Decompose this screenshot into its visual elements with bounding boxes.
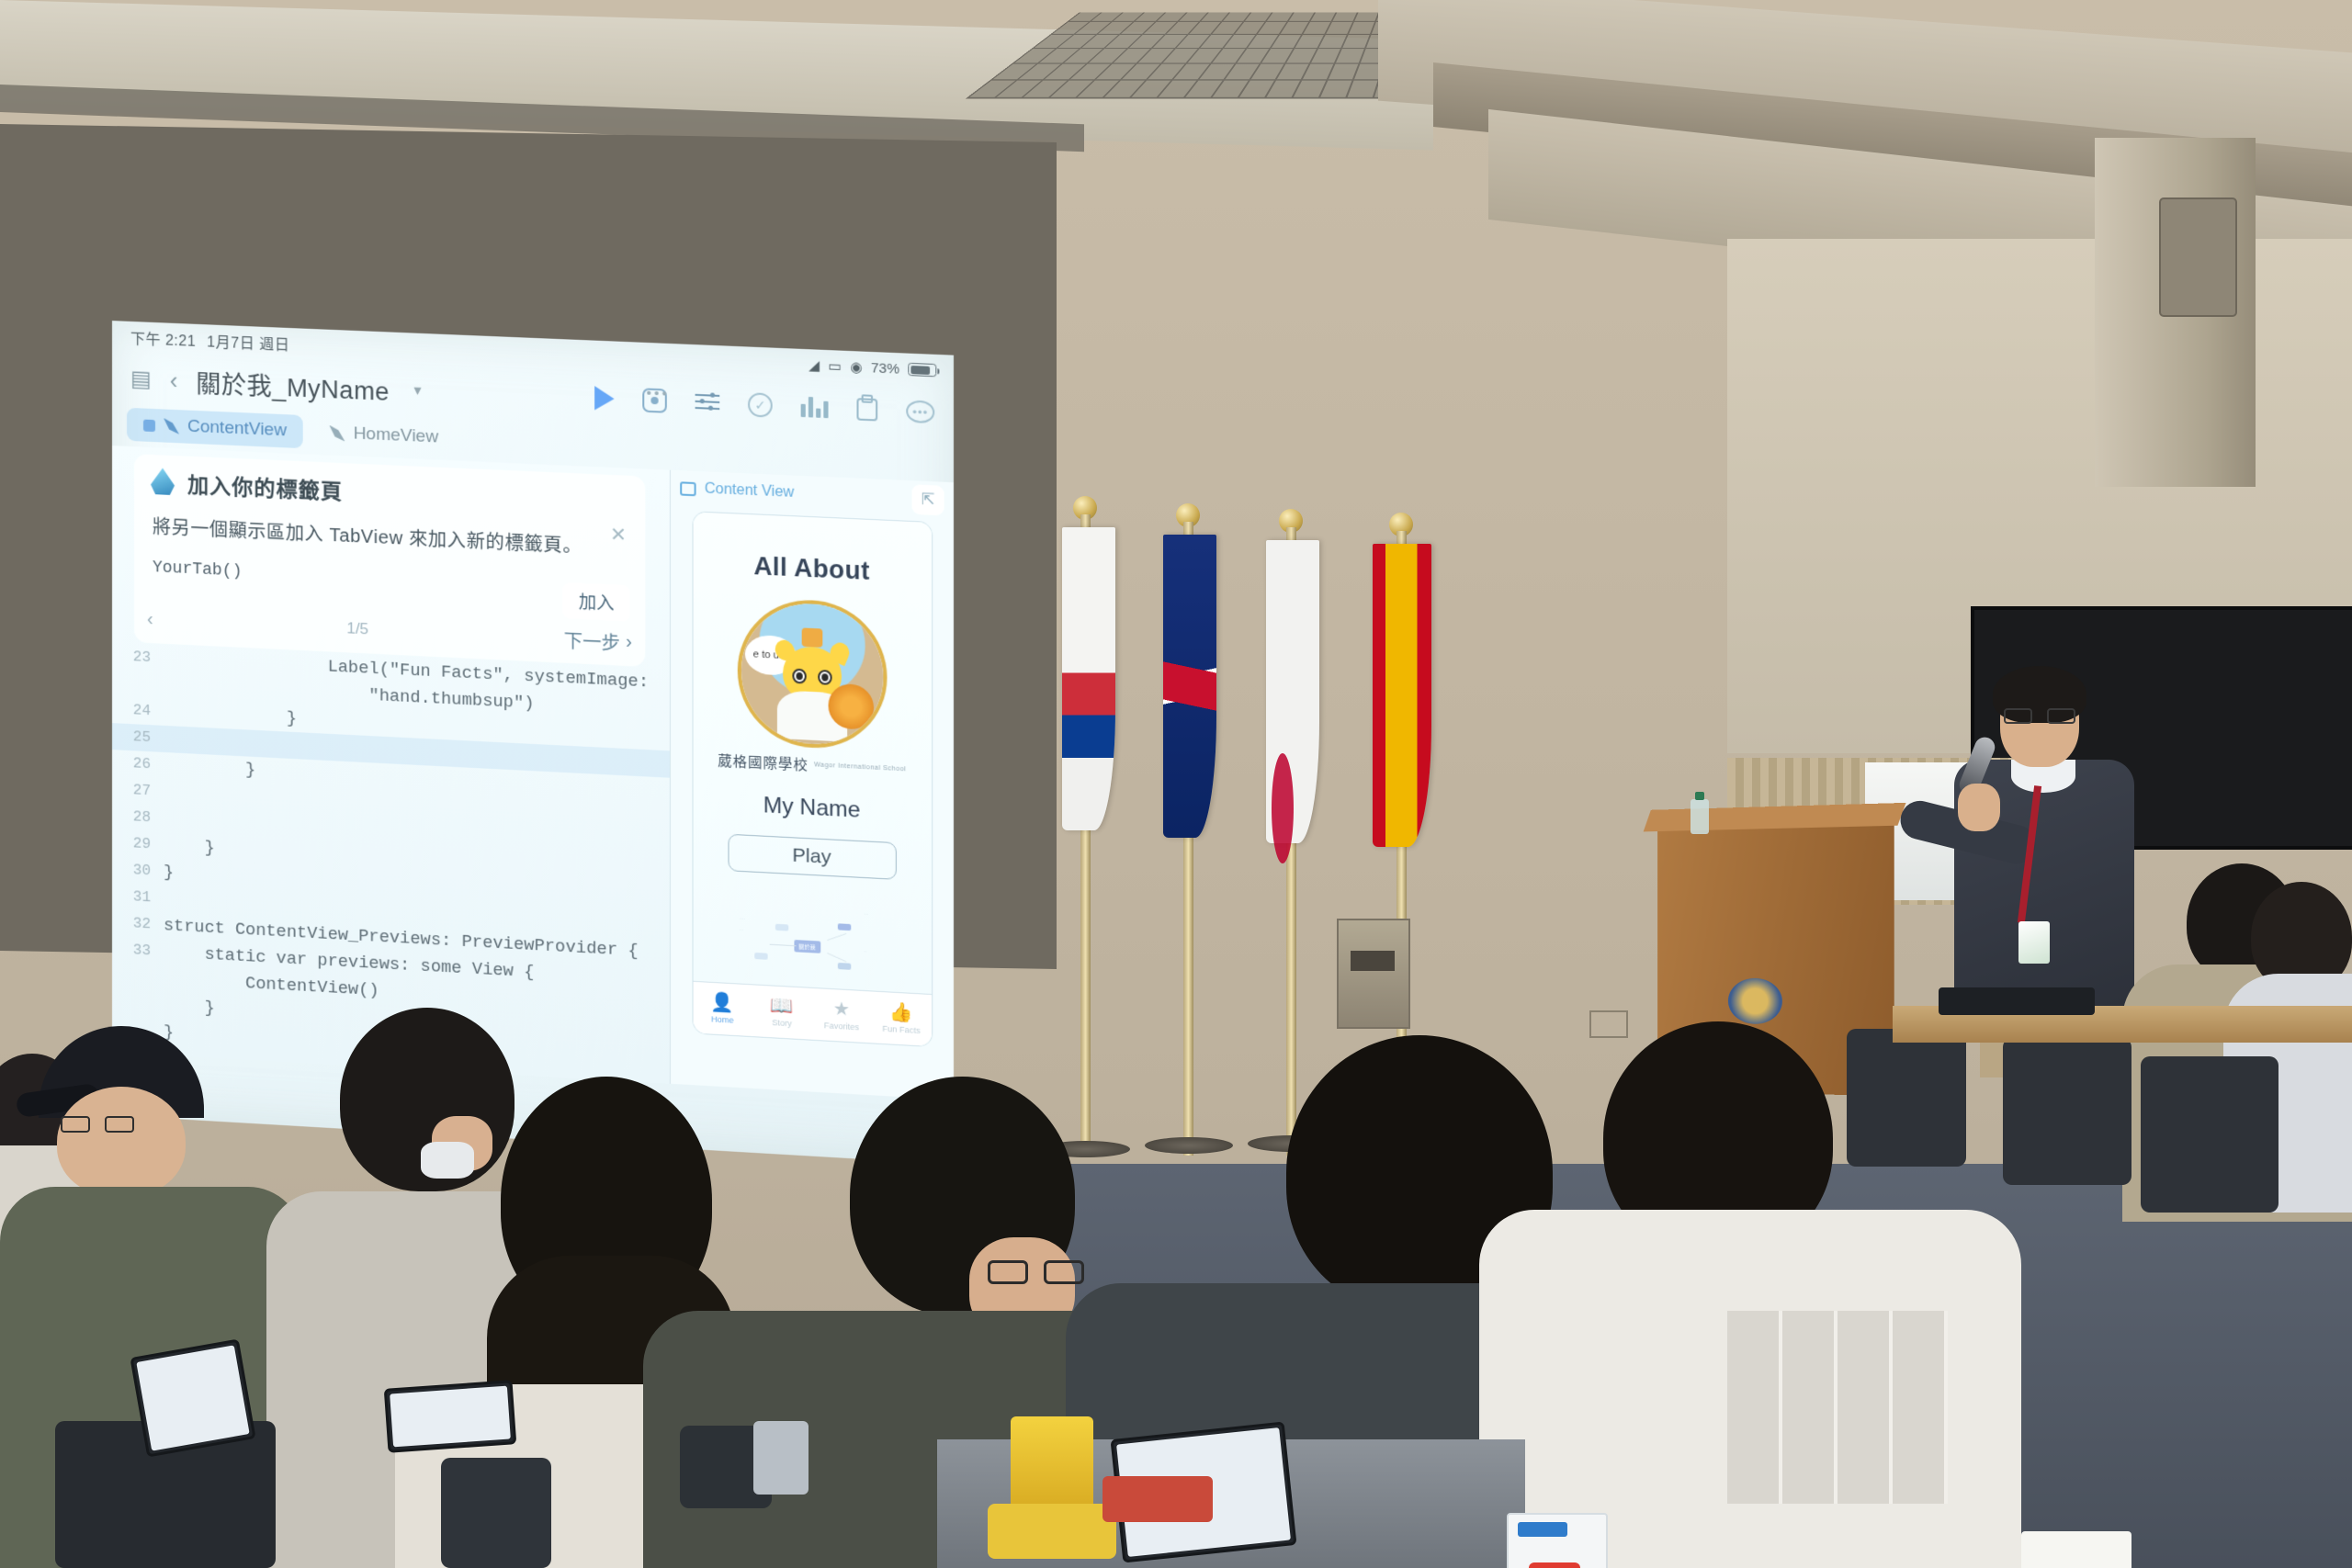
project-title: 關於我_MyName — [196, 363, 390, 407]
assistant-add-button[interactable]: 加入 — [562, 582, 630, 622]
mascot-hat — [801, 627, 822, 647]
school-logo: 葳格國際學校 Wagor International School — [693, 750, 932, 781]
assistant-next-label: 下一步 — [564, 626, 620, 655]
line-number — [112, 670, 164, 699]
more-dots-icon[interactable]: ••• — [647, 385, 670, 401]
preview-header-label: Content View — [705, 480, 794, 502]
assistant-next-button[interactable]: 下一步 › — [564, 626, 632, 656]
school-name-cn: 葳格國際學校 — [718, 750, 808, 774]
chevron-down-icon[interactable]: ▾ — [413, 381, 421, 400]
status-time: 下午 2:21 — [130, 326, 196, 351]
water-bottle — [1690, 799, 1709, 834]
microbit-box — [1507, 1513, 1608, 1568]
assistant-card: 加入你的標籤頁 將另一個顯示區加入 TabView 來加入新的標籤頁。 Your… — [134, 454, 645, 667]
line-number: 24 — [112, 696, 164, 726]
red-case — [1102, 1476, 1213, 1522]
presenter-hand — [1958, 784, 2000, 831]
glasses-icon — [61, 1116, 134, 1133]
code-text: } — [164, 752, 255, 784]
robot-kit-base — [988, 1504, 1116, 1559]
microbit-logo — [1518, 1522, 1567, 1537]
line-number: 27 — [112, 776, 164, 806]
school-name-en: Wagor International School — [814, 761, 906, 773]
sidebar-toggle-icon[interactable]: ▤ — [130, 365, 152, 392]
swift-playgrounds-drop-icon — [151, 468, 175, 496]
next-chevron-icon: › — [626, 631, 632, 653]
code-text: } — [164, 832, 215, 862]
prev-chevron-icon[interactable]: ‹ — [147, 608, 153, 629]
assistant-title: 加入你的標籤頁 — [187, 468, 343, 506]
back-chevron-icon[interactable]: ‹ — [170, 366, 178, 394]
check-circle-icon[interactable]: ✓ — [748, 392, 773, 418]
line-number: 25 — [112, 723, 164, 752]
projection-screen: 下午 2:21 1月7日 週日 ◢ ▭ ◉ 73% ▤ ‹ 關於我_MyName… — [0, 124, 1057, 969]
canvas-icon — [680, 481, 695, 496]
chair — [441, 1458, 551, 1568]
battery-icon — [908, 363, 936, 378]
expand-diagonal-icon[interactable]: ⇱ — [911, 484, 944, 515]
swift-file-icon — [164, 418, 179, 434]
bar-chart-icon[interactable] — [801, 397, 829, 419]
file-tab-label: HomeView — [354, 423, 439, 447]
status-date: 1月7日 週日 — [207, 329, 289, 355]
mascot-pupil-left — [796, 672, 802, 680]
shirt-print-portraits — [1727, 1311, 1948, 1504]
line-number: 28 — [112, 803, 164, 832]
tablet[interactable] — [384, 1380, 517, 1453]
assistant-body: 將另一個顯示區加入 TabView 來加入新的標籤頁。 — [153, 512, 627, 560]
microbit-graphic — [1529, 1562, 1580, 1568]
file-tab-label: ContentView — [187, 417, 287, 442]
line-number: 23 — [112, 643, 164, 672]
robot-kit — [1011, 1416, 1093, 1517]
battery-percent-label: 73% — [871, 360, 899, 378]
user-name: My Name — [693, 789, 932, 828]
line-number: 29 — [112, 829, 164, 859]
swift-file-icon — [329, 425, 345, 442]
thermos — [753, 1421, 808, 1495]
glasses-icon — [988, 1260, 1084, 1284]
sliders-icon[interactable] — [695, 392, 720, 413]
tissue-box — [2021, 1531, 2131, 1568]
mascot-pupil-right — [821, 673, 828, 681]
audience — [0, 870, 2352, 1568]
screen-mirror-icon: ▭ — [828, 357, 842, 375]
wifi-icon: ◢ — [808, 356, 820, 374]
lock-rotation-icon: ◉ — [850, 358, 863, 376]
close-x-icon[interactable]: ✕ — [610, 523, 627, 547]
play-icon[interactable] — [594, 386, 614, 411]
presentation-scene: 下午 2:21 1月7日 週日 ◢ ▭ ◉ 73% ▤ ‹ 關於我_MyName… — [0, 0, 2352, 1568]
active-file-badge-icon — [143, 419, 155, 432]
mascot-avatar: e to us! — [741, 601, 883, 748]
tablet[interactable] — [130, 1338, 255, 1457]
glasses-icon — [2004, 708, 2075, 724]
line-number: 26 — [112, 750, 164, 779]
assistant-code-snippet: YourTab() — [153, 558, 627, 599]
ceiling-speaker — [2159, 197, 2237, 317]
face-mask — [421, 1142, 474, 1179]
ellipsis-circle-icon[interactable]: ••• — [906, 400, 934, 423]
file-tab-contentview[interactable]: ContentView — [127, 408, 303, 448]
assistant-page-indicator: 1/5 — [346, 619, 368, 638]
file-tab-homeview[interactable]: HomeView — [312, 415, 455, 455]
package-icon[interactable] — [856, 398, 877, 421]
app-title: All About — [693, 549, 932, 589]
